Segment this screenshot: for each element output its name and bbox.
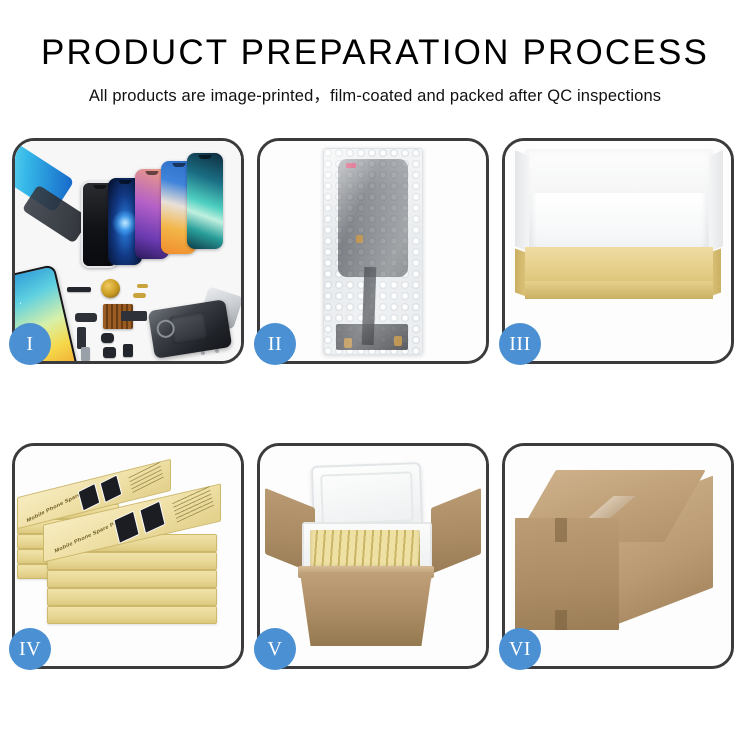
step-image-2 [260, 141, 486, 361]
sim-tray-part [81, 347, 90, 361]
carton-seam [555, 610, 567, 630]
step-image-3 [505, 141, 731, 361]
lcd-module [338, 159, 408, 277]
retail-box [47, 570, 217, 588]
step-badge-5: V [254, 628, 296, 670]
flex-cable-part [121, 311, 147, 321]
flex-cable-part [77, 327, 86, 349]
phone-screens-illustration [15, 141, 241, 361]
step-badge-2: II [254, 323, 296, 365]
step-image-6 [505, 446, 731, 666]
process-steps-grid: I II [12, 138, 738, 669]
step-badge-4: IV [9, 628, 51, 670]
step-panel-6[interactable]: VI [502, 443, 734, 669]
screw-part [201, 351, 205, 355]
page-subtitle: All products are image-printed，film-coat… [0, 82, 750, 106]
step-image-4: Mobile Phone Spare Parts Mobile Phone Sp… [15, 446, 241, 666]
vibrator-part [123, 344, 133, 357]
foam-sheet [533, 193, 705, 255]
carton-seam [555, 518, 567, 542]
step-panel-3[interactable]: III [502, 138, 734, 364]
gold-connector [356, 235, 363, 243]
carton-flap-right [431, 488, 481, 574]
step-badge-3: III [499, 323, 541, 365]
step-image-5 [260, 446, 486, 666]
packed-yellow-boxes [310, 530, 420, 570]
carton-packing-illustration [260, 446, 486, 666]
spare-part-button [101, 333, 114, 343]
page-title: PRODUCT PREPARATION PROCESS [0, 33, 750, 73]
step-badge-1: I [9, 323, 51, 365]
sealed-carton-illustration [505, 446, 731, 666]
phone-screen-teal-gradient [187, 153, 223, 249]
shipping-carton-open [300, 572, 432, 646]
pink-qc-label [346, 163, 356, 168]
step-image-1 [15, 141, 241, 361]
screw-part [215, 349, 219, 353]
gold-connector [394, 336, 402, 346]
bubble-wrapped-lcd-illustration [260, 141, 486, 361]
gold-contact-part [137, 284, 148, 288]
step-badge-6: VI [499, 628, 541, 670]
inner-box-illustration [505, 141, 731, 361]
step-panel-4[interactable]: Mobile Phone Spare Parts Mobile Phone Sp… [12, 443, 244, 669]
bubble-wrap-bag [323, 148, 423, 355]
stacked-boxes-illustration: Mobile Phone Spare Parts Mobile Phone Sp… [15, 446, 241, 666]
retail-box [47, 606, 217, 624]
carton-front-face [515, 518, 619, 630]
retail-box [47, 588, 217, 606]
step-panel-1[interactable]: I [12, 138, 244, 364]
gold-contact-part [133, 293, 146, 298]
flex-cable-part [75, 313, 97, 322]
step-panel-5[interactable]: V [257, 443, 489, 669]
spare-part-strip [67, 287, 91, 292]
step-panel-2[interactable]: II [257, 138, 489, 364]
page-header: PRODUCT PREPARATION PROCESS All products… [0, 0, 750, 106]
speaker-component [101, 279, 120, 298]
gold-connector [344, 338, 352, 348]
camera-module-part [103, 347, 116, 358]
